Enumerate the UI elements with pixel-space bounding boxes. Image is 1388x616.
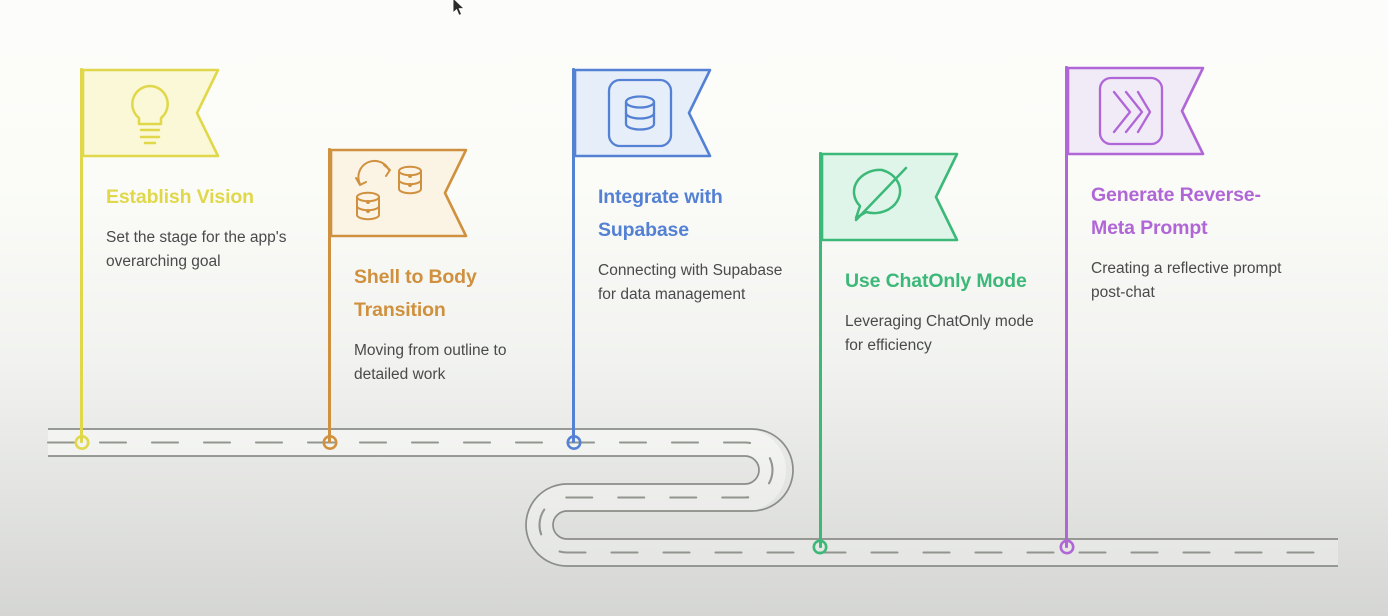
milestone-text-3: Integrate with Supabase Connecting with … bbox=[598, 181, 798, 307]
milestone-description-2: Moving from outline to detailed work bbox=[354, 339, 554, 387]
flag-banner-5 bbox=[1066, 66, 1206, 158]
milestone-description-3: Connecting with Supabase for data manage… bbox=[598, 259, 798, 307]
flag-banner-2 bbox=[329, 148, 469, 240]
milestone-text-2: Shell to Body Transition Moving from out… bbox=[354, 261, 554, 387]
mouse-pointer-icon bbox=[452, 0, 466, 17]
milestone-description-4: Leveraging ChatOnly mode for efficiency bbox=[845, 310, 1045, 358]
milestone-text-5: Generate Reverse-Meta Prompt Creating a … bbox=[1091, 179, 1291, 305]
milestone-description-5: Creating a reflective prompt post-chat bbox=[1091, 257, 1291, 305]
milestone-text-1: Establish Vision Set the stage for the a… bbox=[106, 181, 306, 274]
milestone-description-1: Set the stage for the app's overarching … bbox=[106, 226, 306, 274]
flag-banner-3 bbox=[573, 68, 713, 160]
milestone-title-4: Use ChatOnly Mode bbox=[845, 265, 1045, 298]
flag-banner-1 bbox=[81, 68, 221, 160]
milestone-title-2: Shell to Body Transition bbox=[354, 261, 554, 327]
flag-banner-4 bbox=[820, 152, 960, 244]
milestone-text-4: Use ChatOnly Mode Leveraging ChatOnly mo… bbox=[845, 265, 1045, 358]
milestone-title-3: Integrate with Supabase bbox=[598, 181, 798, 247]
roadmap-canvas: Establish Vision Set the stage for the a… bbox=[0, 0, 1388, 616]
milestone-title-5: Generate Reverse-Meta Prompt bbox=[1091, 179, 1291, 245]
milestone-title-1: Establish Vision bbox=[106, 181, 306, 214]
